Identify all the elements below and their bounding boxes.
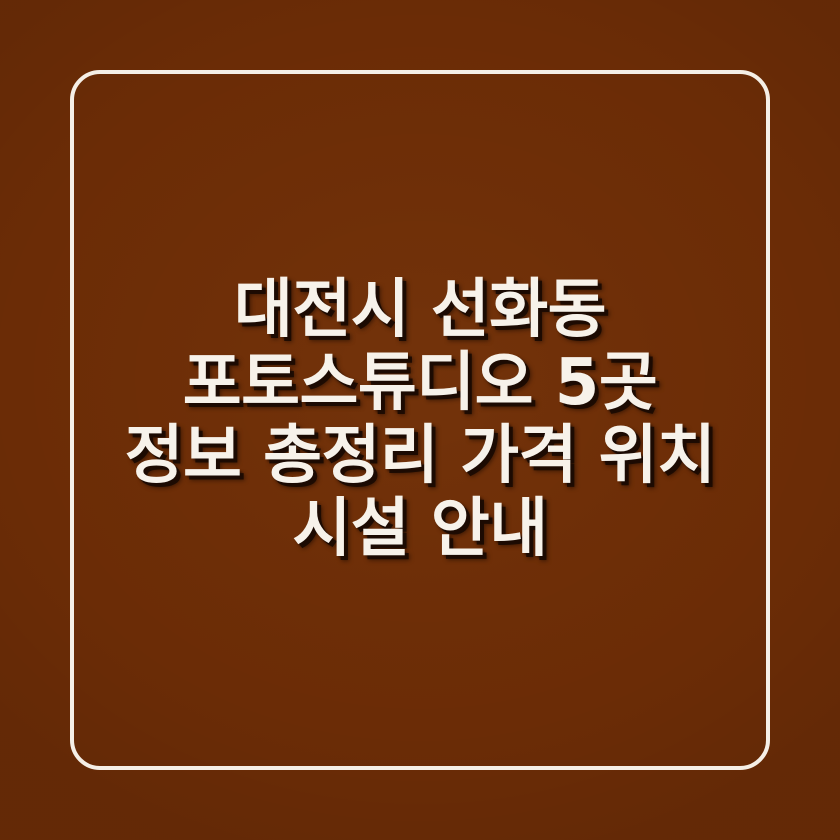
headline-line-4: 시설 안내 [84, 493, 756, 566]
headline-line-2: 포토스튜디오 5곳 [84, 347, 756, 420]
poster-canvas: 대전시 선화동 포토스튜디오 5곳 정보 총정리 가격 위치 시설 안내 [0, 0, 840, 840]
headline-line-3: 정보 총정리 가격 위치 [84, 420, 756, 493]
headline-line-1: 대전시 선화동 [84, 274, 756, 347]
headline-text-block: 대전시 선화동 포토스튜디오 5곳 정보 총정리 가격 위치 시설 안내 [70, 70, 770, 770]
